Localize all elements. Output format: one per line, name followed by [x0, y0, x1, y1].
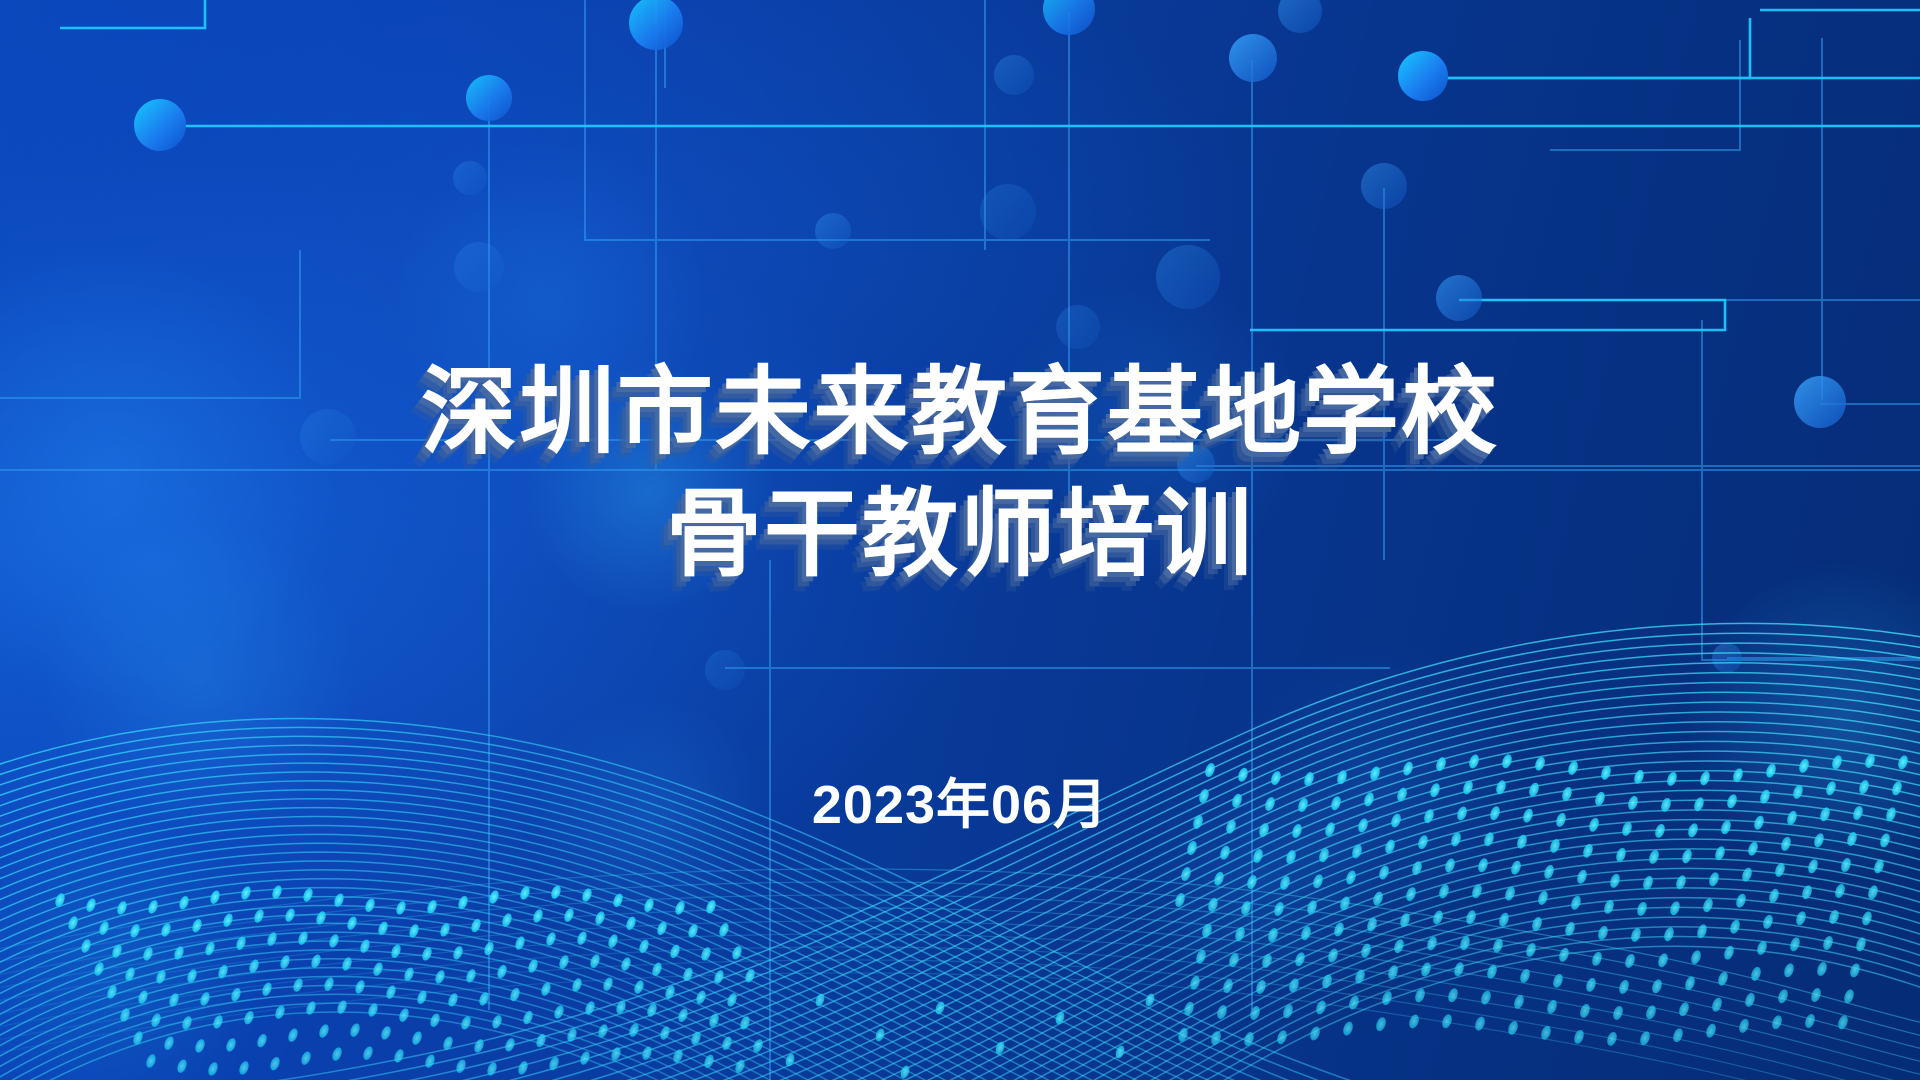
accent-dot: [1650, 978, 1663, 995]
accent-dot: [1671, 1027, 1684, 1044]
accent-dot: [1623, 953, 1636, 970]
accent-dot: [144, 1053, 157, 1069]
accent-dot: [330, 1046, 343, 1062]
accent-dot: [224, 1037, 237, 1053]
accent-dot: [1212, 870, 1225, 887]
accent-dot: [410, 1030, 423, 1046]
accent-dot: [162, 1035, 175, 1051]
accent-dot: [531, 908, 544, 924]
accent-dot: [1248, 1005, 1261, 1022]
accent-dot: [1584, 977, 1597, 994]
accent-dot: [1314, 999, 1327, 1016]
wave-line: [0, 673, 1920, 1080]
accent-dot: [363, 897, 376, 913]
accent-dot: [208, 889, 221, 905]
accent-dot: [1320, 973, 1333, 990]
accent-dot: [1803, 1013, 1816, 1030]
accent-dot: [1629, 927, 1642, 944]
accent-dot: [1728, 918, 1741, 935]
accent-dot: [193, 1038, 206, 1054]
accent-dot: [575, 930, 588, 946]
title-line-2: 骨干教师培训: [0, 474, 1920, 596]
accent-dot: [1311, 873, 1324, 890]
accent-dot: [1668, 900, 1681, 917]
accent-dot: [1746, 840, 1759, 857]
accent-dot: [177, 895, 190, 911]
accent-dot: [1647, 849, 1660, 866]
accent-dot: [255, 1033, 268, 1049]
accent-dot: [1737, 1018, 1750, 1035]
accent-dot: [175, 1058, 188, 1074]
wave-line: [0, 870, 1920, 1080]
accent-dot: [1446, 987, 1459, 1004]
accent-dot: [601, 976, 614, 992]
title-line-1: 深圳市未来教育基地学校: [0, 352, 1920, 474]
accent-dot: [1569, 895, 1582, 912]
accent-dot: [619, 956, 632, 972]
accent-dot: [1680, 848, 1693, 865]
accent-dot: [379, 1025, 392, 1041]
accent-dot: [384, 984, 397, 1000]
title-block: 深圳市未来教育基地学校 骨干教师培训: [0, 352, 1920, 596]
accent-dot: [1689, 949, 1702, 966]
accent-dot: [1662, 926, 1675, 943]
accent-dot: [1848, 962, 1861, 979]
accent-dot: [508, 986, 521, 1002]
accent-dot: [516, 1060, 529, 1076]
accent-dot: [1656, 952, 1669, 969]
accent-dot: [1782, 962, 1795, 979]
accent-dot: [1794, 910, 1807, 927]
accent-dot: [1404, 886, 1417, 903]
accent-dot: [1473, 1015, 1486, 1032]
accent-dot: [392, 1048, 405, 1064]
accent-dot: [534, 1032, 547, 1048]
accent-dot: [1260, 953, 1273, 970]
accent-dot: [239, 885, 252, 901]
accent-dot: [1749, 966, 1762, 983]
accent-dot: [309, 953, 322, 969]
accent-dot: [454, 1058, 467, 1074]
wave-line: [0, 820, 1920, 1080]
accent-dot: [1743, 992, 1756, 1009]
accent-dot: [1536, 890, 1549, 907]
accent-dot: [441, 1035, 454, 1051]
accent-dot: [1839, 857, 1852, 874]
accent-dot: [934, 1000, 946, 1015]
subtitle-date: 2023年06月: [0, 760, 1920, 839]
presentation-slide: 深圳市未来教育基地学校 骨干教师培训 2023年06月: [0, 0, 1920, 1080]
accent-dot: [1179, 866, 1192, 883]
accent-dot: [1704, 1022, 1717, 1039]
accent-dot: [1545, 999, 1558, 1016]
accent-dot: [1821, 935, 1834, 952]
accent-dot: [469, 917, 482, 933]
accent-dot: [304, 1000, 317, 1016]
accent-dot: [348, 1022, 361, 1038]
accent-dot: [1701, 897, 1714, 914]
accent-dot: [676, 1007, 689, 1023]
accent-dot: [1734, 892, 1747, 909]
wave-line: [0, 692, 1920, 1080]
accent-dot: [286, 1027, 299, 1043]
accent-dot: [206, 1061, 219, 1077]
accent-dot: [128, 923, 141, 939]
accent-dot: [1344, 869, 1357, 886]
accent-dot: [1374, 1016, 1387, 1033]
accent-dot: [1776, 988, 1789, 1005]
accent-dot: [1209, 1030, 1222, 1047]
accent-dot: [1575, 869, 1588, 886]
wave-lines-right: [0, 623, 1920, 1080]
accent-dot: [1272, 901, 1285, 918]
accent-dot: [1617, 979, 1630, 996]
accent-dot: [1359, 942, 1372, 959]
accent-dot: [84, 897, 97, 913]
accent-dot: [317, 1023, 330, 1039]
accent-dot: [423, 1053, 436, 1069]
accent-dot: [1407, 1013, 1420, 1030]
accent-dot: [1809, 987, 1822, 1004]
accent-dot: [291, 977, 304, 993]
accent-dot: [1293, 951, 1306, 968]
accent-dot: [299, 1050, 312, 1066]
accent-dot: [268, 1056, 281, 1072]
accent-dot: [1815, 961, 1828, 978]
accent-dot: [1578, 1003, 1591, 1020]
wave-line: [0, 1012, 1920, 1080]
accent-dot: [1542, 864, 1555, 881]
accent-dot: [237, 1060, 250, 1076]
accent-dot: [1341, 1020, 1354, 1037]
accent-dot: [1245, 874, 1258, 891]
accent-dot: [1722, 944, 1735, 961]
accent-dot: [1596, 925, 1609, 942]
accent-dot: [361, 1045, 374, 1061]
accent-dot: [1275, 1029, 1288, 1046]
accent-dot: [632, 979, 645, 995]
